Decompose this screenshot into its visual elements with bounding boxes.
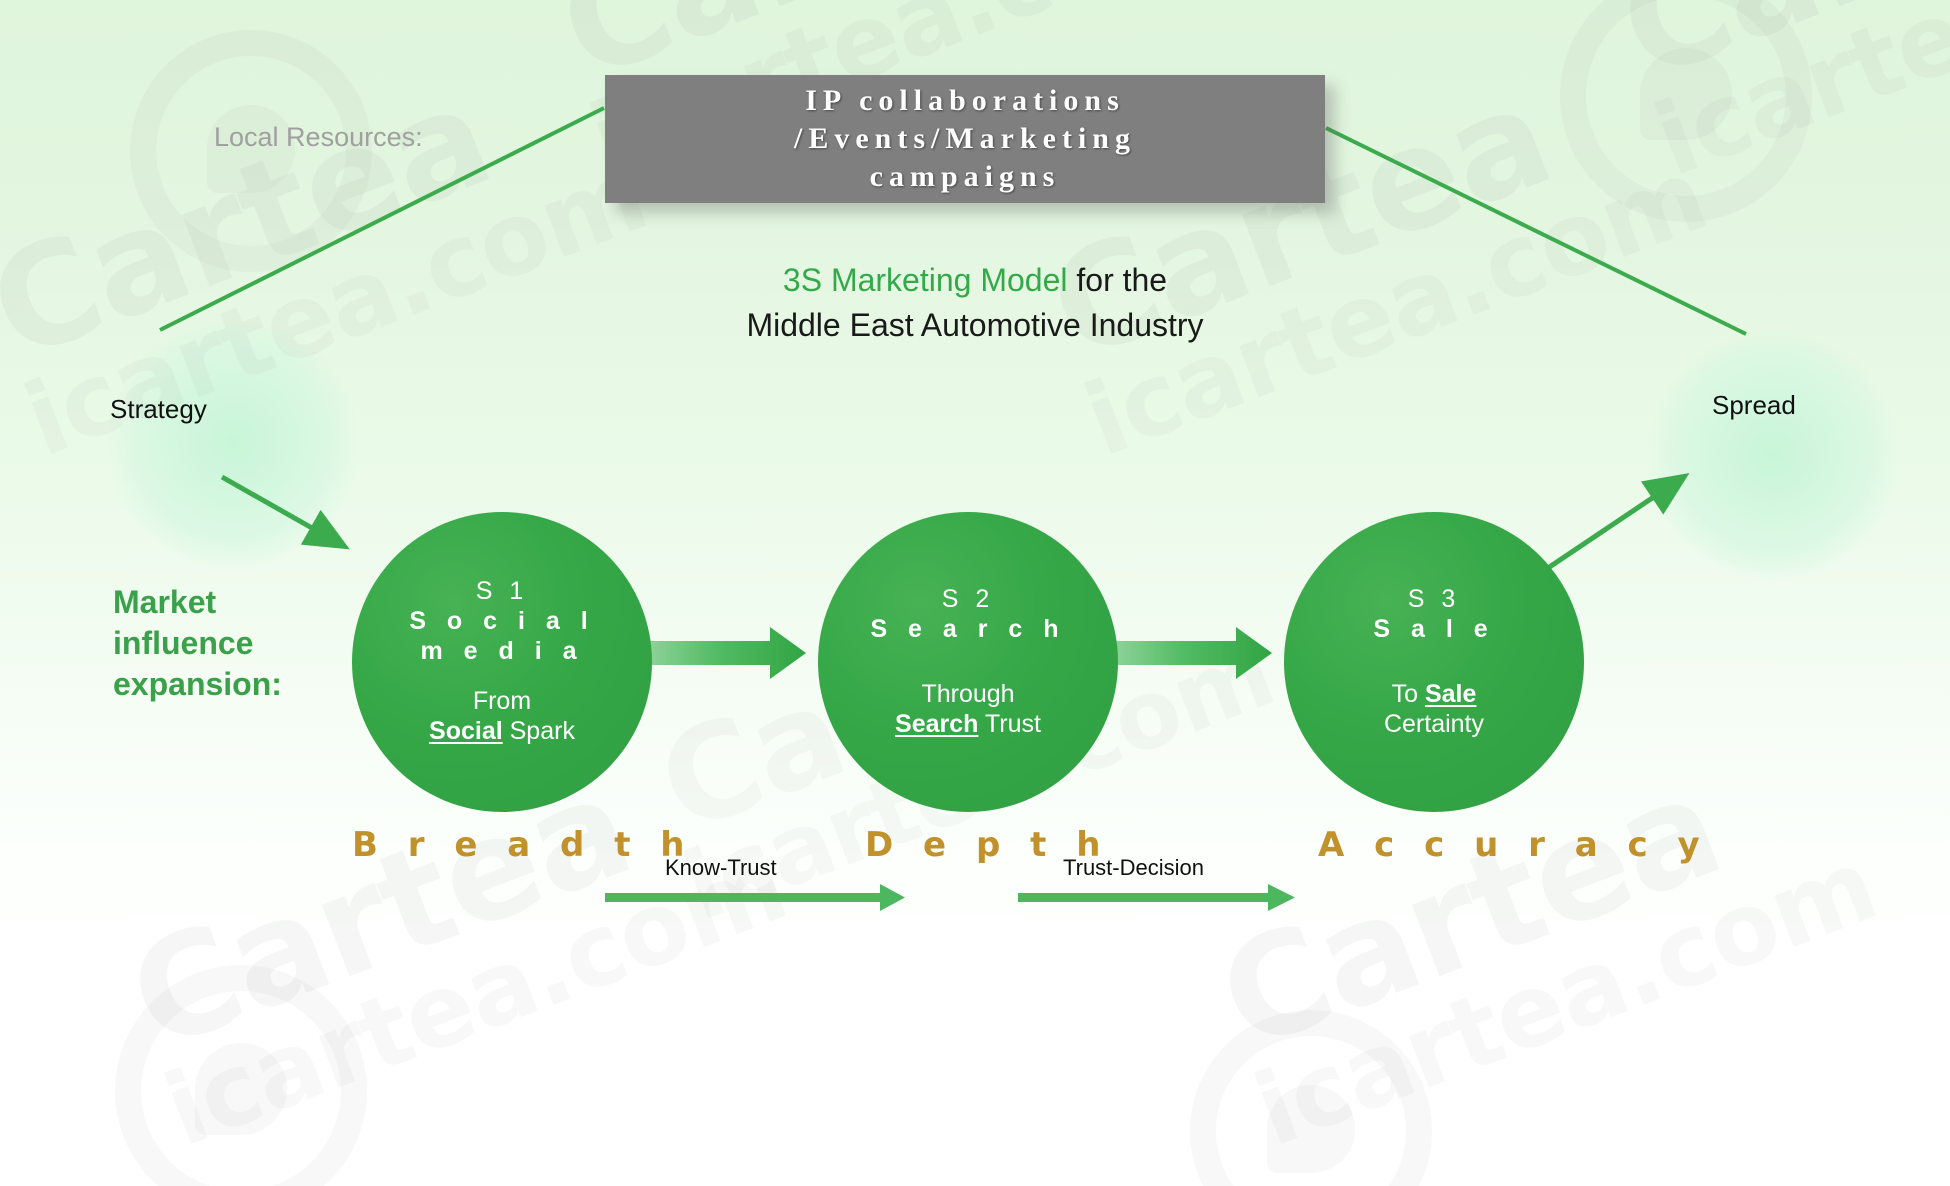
spread-label: Spread (1712, 390, 1796, 421)
arrow-s2-to-s3 (1113, 627, 1272, 679)
arrow-s1-to-s2 (647, 627, 806, 679)
stage-desc-s3-bold: Sale (1425, 680, 1476, 708)
stage-desc-s3-pre: To (1392, 680, 1425, 708)
market-influence-line-2: influence (113, 623, 282, 664)
arrow-know-trust (605, 884, 905, 911)
stage-desc-s2-post: Trust (978, 710, 1041, 738)
header-line-3: campaigns (605, 158, 1325, 196)
stage-name-s2-line1: S e a r c h (870, 615, 1065, 645)
stage-desc-s1-bold: Social (429, 717, 503, 745)
stage-name-s1-line1: S o c i a l (409, 607, 594, 637)
stage-desc-s3-line2: Certainty (1384, 709, 1484, 739)
stage-id-s2: S 2 (942, 586, 995, 614)
stage-label-accuracy: A c c u r a c y (1318, 825, 1709, 865)
stage-desc-s3-line1: To Sale (1392, 679, 1477, 709)
watermark-logo-bottomleft (115, 965, 367, 1186)
header-line-1: IP collaborations (605, 82, 1325, 120)
watermark-brand-4: Cartea (1600, 0, 1950, 112)
stage-desc-s1-post: Spark (503, 717, 575, 745)
arrow-trust-decision (1018, 884, 1295, 911)
link-label-trust-decision: Trust-Decision (1063, 855, 1204, 881)
stage-circle-s3[interactable]: S 3 S a l e To Sale Certainty (1284, 512, 1584, 812)
market-influence-label: Market influence expansion: (113, 582, 282, 705)
stage-desc-s2-line2: Search Trust (895, 709, 1041, 739)
header-line-2: /Events/Marketing (605, 120, 1325, 158)
stage-label-breadth: B r e a d t h (352, 825, 694, 865)
title-line-2: Middle East Automotive Industry (0, 303, 1950, 348)
diagram-canvas: Cartea icartea.com Cartea icartea.com Ca… (0, 0, 1950, 1186)
glow-left (108, 318, 358, 568)
title-highlight: 3S Marketing Model (783, 262, 1068, 298)
local-resources-label: Local Resources: (214, 122, 423, 153)
glow-right (1648, 330, 1898, 580)
stage-desc-s2-bold: Search (895, 710, 978, 738)
watermark-domain-6: icartea.com (1240, 826, 1891, 1169)
title-rest: for the (1067, 262, 1167, 298)
stage-desc-s1-line2: Social Spark (429, 716, 575, 746)
stage-desc-s1-line1: From (473, 686, 531, 716)
stage-name-s3-line1: S a l e (1373, 615, 1494, 645)
stage-desc-s2-line1: Through (921, 679, 1014, 709)
market-influence-line-1: Market (113, 582, 282, 623)
stage-id-s1: S 1 (476, 578, 529, 606)
header-banner: IP collaborations /Events/Marketing camp… (605, 75, 1325, 203)
strategy-label: Strategy (110, 394, 207, 425)
stage-id-s3: S 3 (1408, 586, 1461, 614)
stage-circle-s1[interactable]: S 1 S o c i a l m e d i a From Social Sp… (352, 512, 652, 812)
stage-name-s1-line2: m e d i a (420, 637, 583, 667)
page-title: 3S Marketing Model for the Middle East A… (0, 258, 1950, 349)
watermark-domain-4: icartea.com (1640, 0, 1950, 199)
watermark-logo-topright (1560, 0, 1812, 222)
watermark-logo-bottomright (1190, 1010, 1432, 1186)
link-label-know-trust: Know-Trust (665, 855, 777, 881)
market-influence-line-3: expansion: (113, 664, 282, 705)
stage-circle-s2[interactable]: S 2 S e a r c h Through Search Trust (818, 512, 1118, 812)
